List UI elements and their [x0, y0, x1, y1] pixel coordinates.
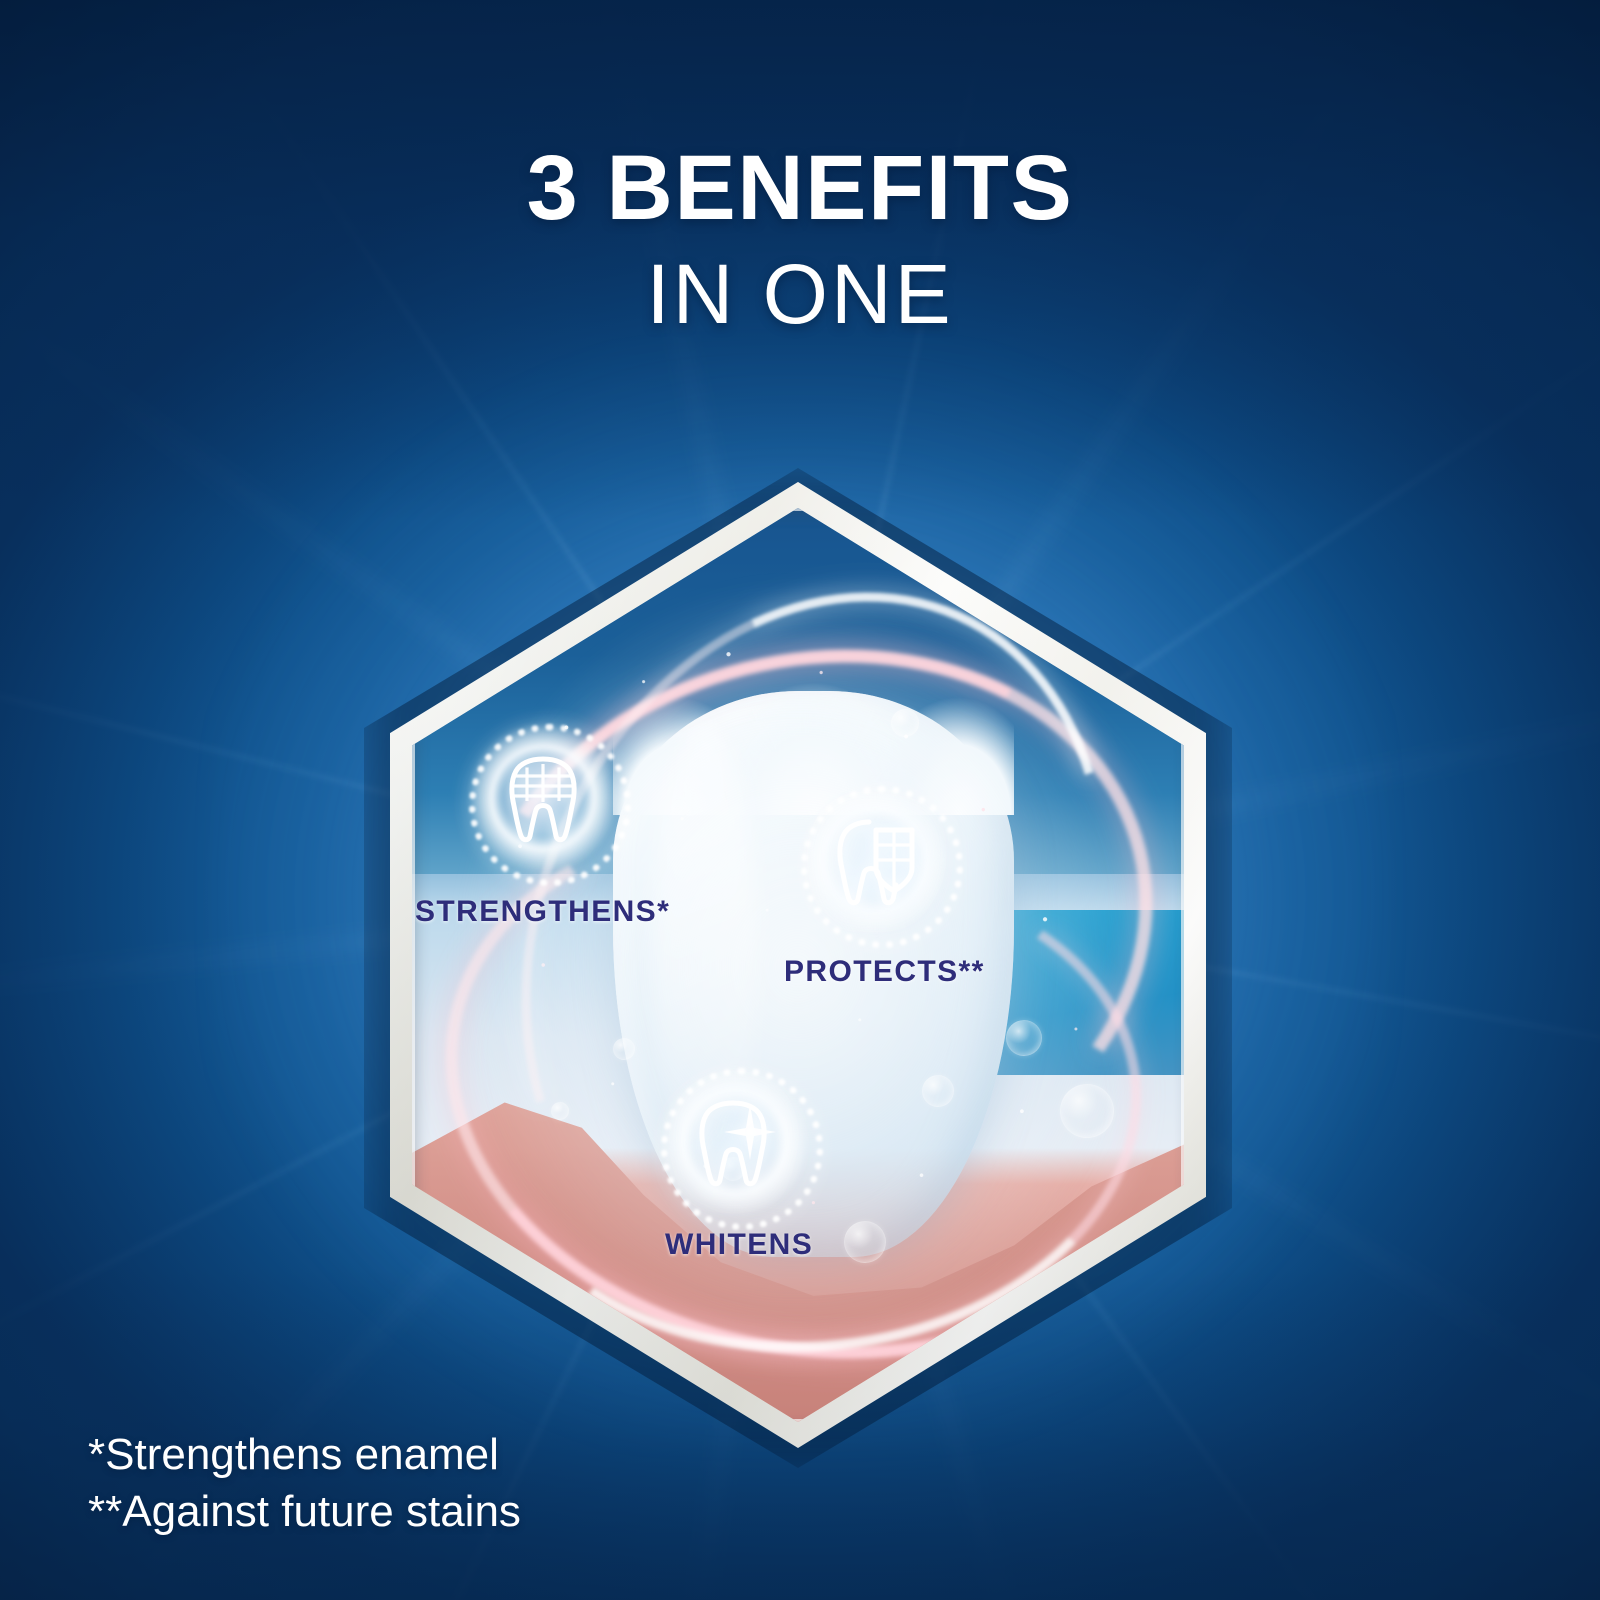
footnote-double-asterisk: **Against future stains	[88, 1483, 521, 1540]
benefit-label-protects: PROTECTS**	[784, 955, 985, 989]
footnotes: *Strengthens enamel **Against future sta…	[88, 1426, 521, 1540]
headline: 3 BENEFITS IN ONE	[0, 142, 1600, 336]
benefit-badge-strengthens[interactable]	[483, 738, 603, 858]
headline-line-1: 3 BENEFITS	[0, 142, 1600, 234]
poster-canvas: 3 BENEFITS IN ONE	[0, 0, 1600, 1600]
bubble	[891, 709, 919, 737]
benefit-badge-whitens[interactable]	[675, 1082, 795, 1202]
benefit-label-whitens: WHITENS	[665, 1228, 813, 1262]
tooth-shield-icon	[831, 814, 919, 906]
bubble	[613, 1038, 635, 1060]
bubble	[922, 1075, 954, 1107]
headline-line-2: IN ONE	[0, 252, 1600, 336]
bubble	[844, 1221, 886, 1263]
tooth-enamel-grid-icon	[502, 752, 584, 844]
footnote-single-asterisk: *Strengthens enamel	[88, 1426, 521, 1483]
tooth-sparkle-icon	[692, 1096, 778, 1188]
benefit-label-strengthens: STRENGTHENS*	[415, 895, 670, 929]
bubble	[551, 1102, 569, 1120]
bubble	[1060, 1084, 1114, 1138]
benefit-badge-protects[interactable]	[815, 800, 935, 920]
